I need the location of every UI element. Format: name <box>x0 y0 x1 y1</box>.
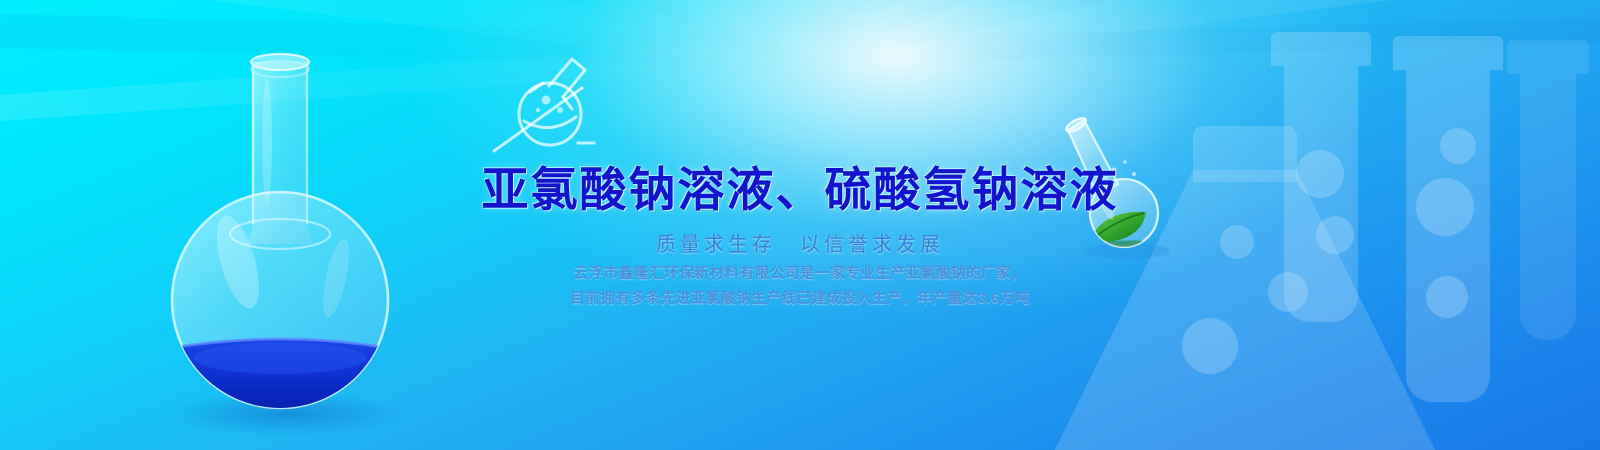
light-ray <box>0 0 800 52</box>
light-ray <box>800 0 1600 52</box>
light-ray <box>800 0 1600 52</box>
tilted-flask-with-leaf <box>1048 112 1176 267</box>
light-ray <box>85 0 800 52</box>
light-ray <box>800 0 1600 52</box>
bubble-circle <box>1440 128 1476 164</box>
light-ray <box>800 0 1515 52</box>
light-ray <box>0 0 800 52</box>
test-tube-glyph <box>1284 32 1358 322</box>
banner-title: 亚氯酸钠溶液、硫酸氢钠溶液 <box>0 151 1600 220</box>
light-ray <box>800 0 1600 52</box>
light-ray <box>0 0 800 52</box>
light-ray <box>0 1 800 52</box>
light-ray <box>800 0 1164 52</box>
light-ray <box>0 0 800 52</box>
banner-subtitle: 质量求生存 以信誉求发展 <box>0 228 1600 257</box>
light-ray <box>258 0 800 52</box>
light-ray <box>800 0 1600 52</box>
bubble-circle <box>1316 216 1354 254</box>
test-tube-glyph <box>1520 40 1576 340</box>
round-bottom-flask <box>150 28 410 443</box>
bubble-circle <box>1416 178 1474 236</box>
light-ray <box>800 0 1600 52</box>
light-ray <box>800 1 1600 52</box>
light-ray <box>800 0 1600 52</box>
light-ray <box>0 0 800 52</box>
light-ray <box>0 0 800 52</box>
bubble-circle <box>1426 276 1468 318</box>
light-ray <box>0 52 800 185</box>
light-ray <box>436 0 800 52</box>
light-ray <box>0 0 800 52</box>
background-lab-glyphs <box>1040 0 1600 450</box>
light-ray <box>0 0 800 52</box>
light-ray <box>800 0 1600 52</box>
bubble-circle <box>1220 225 1254 259</box>
light-ray <box>800 0 1600 52</box>
light-ray <box>0 0 800 52</box>
sunburst-rays <box>0 52 1600 450</box>
light-ray <box>0 0 800 52</box>
flask-outline-icon <box>486 48 604 161</box>
bubble-circle <box>1296 150 1344 198</box>
light-ray <box>800 0 1600 52</box>
light-ray <box>0 0 800 52</box>
banner-description-line-1: 云浮市鑫隆汇环保新材料有限公司是一家专业生产亚氯酸钠的厂家， <box>0 262 1600 283</box>
test-tube-glyph <box>1406 36 1490 402</box>
bubble-circle <box>1268 272 1308 312</box>
light-ray <box>617 0 800 52</box>
promo-banner: 亚氯酸钠溶液、硫酸氢钠溶液 质量求生存 以信誉求发展 云浮市鑫隆汇环保新材料有限… <box>0 0 1600 450</box>
light-ray <box>800 0 1600 52</box>
bubble-circle <box>1182 318 1238 374</box>
light-ray <box>800 0 983 52</box>
light-ray <box>800 0 1342 52</box>
banner-description-line-2: 目前拥有多条先进亚氯酸钠生产线已建成投入生产，年产量达3.6万吨 <box>0 287 1600 308</box>
